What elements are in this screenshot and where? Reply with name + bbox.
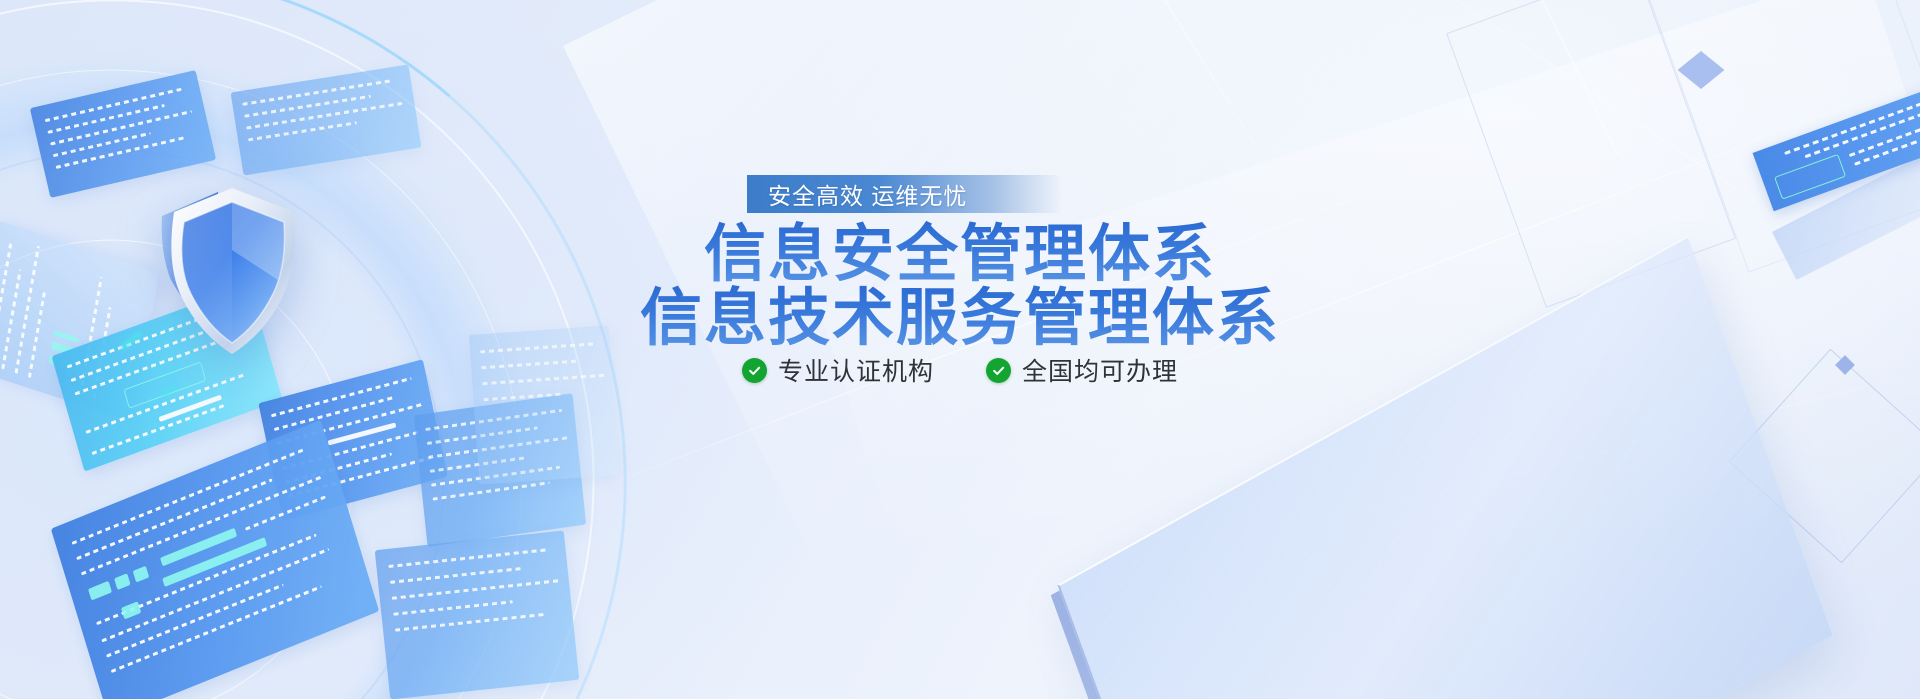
banner-content: 安全高效 运维无忧 信息安全管理体系 信息技术服务管理体系 专业认证机构 (0, 0, 1920, 699)
headline-line-1: 信息安全管理体系 (0, 224, 1920, 286)
feature-label: 专业认证机构 (778, 352, 934, 388)
check-circle-icon (742, 358, 767, 383)
hero-banner: 安全高效 运维无忧 信息安全管理体系 信息技术服务管理体系 专业认证机构 (0, 0, 1920, 699)
banner-badge: 安全高效 运维无忧 (747, 175, 1062, 213)
feature-label: 全国均可办理 (1022, 352, 1178, 388)
feature-item-certified: 专业认证机构 (742, 352, 934, 388)
banner-badge-label: 安全高效 运维无忧 (747, 177, 967, 211)
check-circle-icon (986, 358, 1011, 383)
headline-line-1-text: 信息安全管理体系 (704, 220, 1216, 289)
feature-list: 专业认证机构 全国均可办理 (0, 338, 1920, 388)
feature-item-nationwide: 全国均可办理 (986, 352, 1178, 388)
